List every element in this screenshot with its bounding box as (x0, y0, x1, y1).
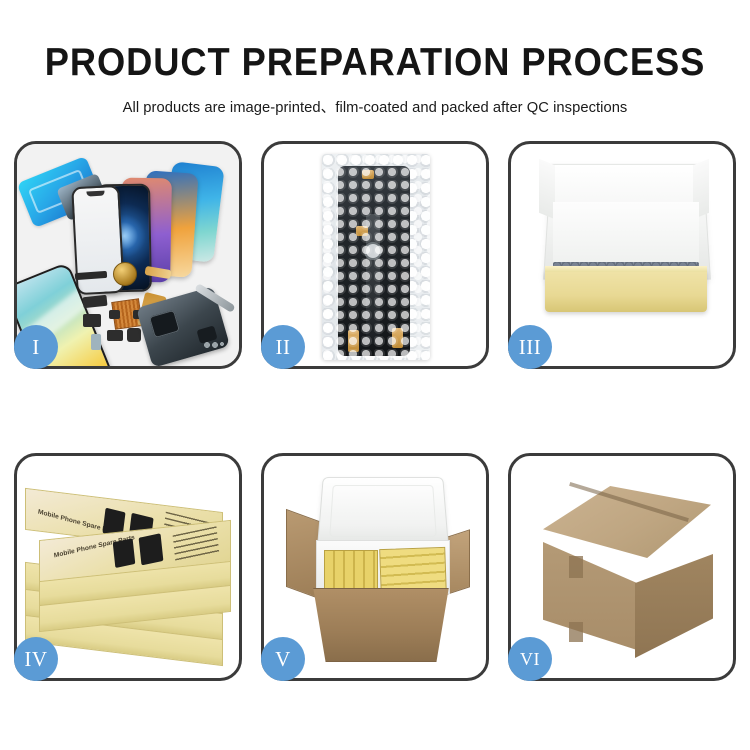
box-thumb-front-a (113, 538, 136, 568)
spare-part-e (91, 334, 101, 350)
shipping-carton-front (543, 542, 637, 650)
step-badge-4: IV (14, 637, 58, 681)
screws-group (203, 340, 225, 350)
speaker-component (113, 262, 137, 286)
step-badge-5: V (261, 637, 305, 681)
step-badge-1: I (14, 325, 58, 369)
process-step-4: Mobile Phone Spare Parts Mobile Phone Sp… (14, 453, 242, 681)
process-step-6: VI (508, 453, 736, 681)
spare-part-c (107, 330, 123, 341)
yellow-carton-tray (545, 270, 707, 312)
spare-part-f (109, 310, 120, 319)
header: PRODUCT PREPARATION PROCESS All products… (0, 0, 750, 117)
carton-tape-lower (569, 622, 583, 642)
process-step-grid: I II (14, 141, 736, 681)
process-step-5: V (261, 453, 489, 681)
box-thumb-front-b (139, 533, 164, 565)
styrofoam-lid (317, 477, 449, 548)
step-badge-6: VI (508, 637, 552, 681)
carton-body (304, 588, 458, 662)
bubble-texture (322, 154, 430, 360)
process-step-1: I (14, 141, 242, 369)
step-badge-3: III (508, 325, 552, 369)
carton-tape-upper (569, 556, 583, 578)
shipping-carton-top (543, 486, 711, 558)
shipping-carton-side (635, 554, 713, 658)
box-stack: Mobile Phone Spare Parts Mobile Phone Sp… (23, 476, 239, 666)
spare-part-d (127, 328, 141, 342)
page-subtitle: All products are image-printed、film-coat… (11, 83, 739, 117)
yellow-boxes-right (379, 547, 447, 595)
process-step-2: II (261, 141, 489, 369)
spare-part-a (82, 295, 107, 308)
process-step-3: III (508, 141, 736, 369)
bubble-wrap-bag (322, 154, 430, 360)
yellow-boxes-left (324, 550, 378, 592)
step-badge-2: II (261, 325, 305, 369)
infographic-page: PRODUCT PREPARATION PROCESS All products… (0, 0, 750, 750)
spare-part-b (83, 314, 101, 327)
page-title: PRODUCT PREPARATION PROCESS (26, 0, 724, 83)
